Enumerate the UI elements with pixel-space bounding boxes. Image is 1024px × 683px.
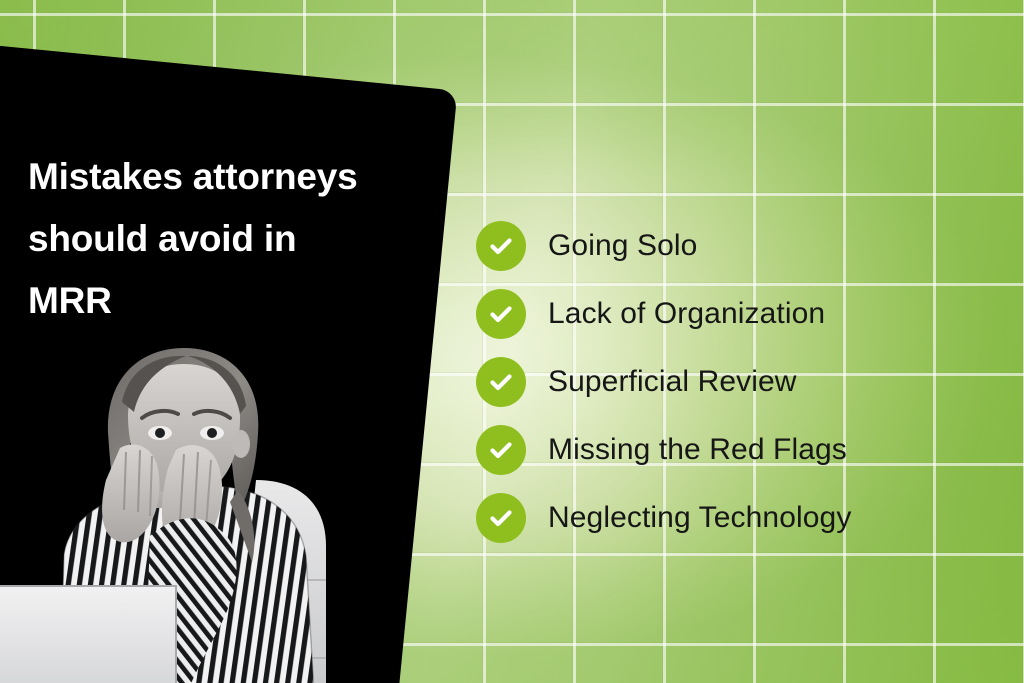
list-item-label: Lack of Organization — [548, 297, 825, 331]
check-circle-icon — [476, 493, 526, 543]
list-item[interactable]: Superficial Review — [476, 348, 996, 416]
list-item[interactable]: Going Solo — [476, 212, 996, 280]
list-item-label: Neglecting Technology — [548, 501, 851, 535]
list-item-label: Missing the Red Flags — [548, 433, 847, 467]
check-circle-icon — [476, 221, 526, 271]
list-item[interactable]: Neglecting Technology — [476, 484, 996, 552]
list-item-label: Superficial Review — [548, 365, 797, 399]
slide-canvas: Mistakes attorneys should avoid in MRR — [0, 0, 1024, 683]
list-item[interactable]: Missing the Red Flags — [476, 416, 996, 484]
check-circle-icon — [476, 289, 526, 339]
worried-woman-at-laptop-photo — [0, 340, 370, 683]
check-circle-icon — [476, 357, 526, 407]
checklist: Going Solo Lack of Organization Superfic… — [476, 212, 996, 552]
check-circle-icon — [476, 425, 526, 475]
list-item[interactable]: Lack of Organization — [476, 280, 996, 348]
page-title: Mistakes attorneys should avoid in MRR — [28, 146, 448, 332]
black-angled-panel: Mistakes attorneys should avoid in MRR — [0, 40, 458, 683]
black-panel-inner: Mistakes attorneys should avoid in MRR — [0, 40, 458, 683]
list-item-label: Going Solo — [548, 229, 697, 263]
